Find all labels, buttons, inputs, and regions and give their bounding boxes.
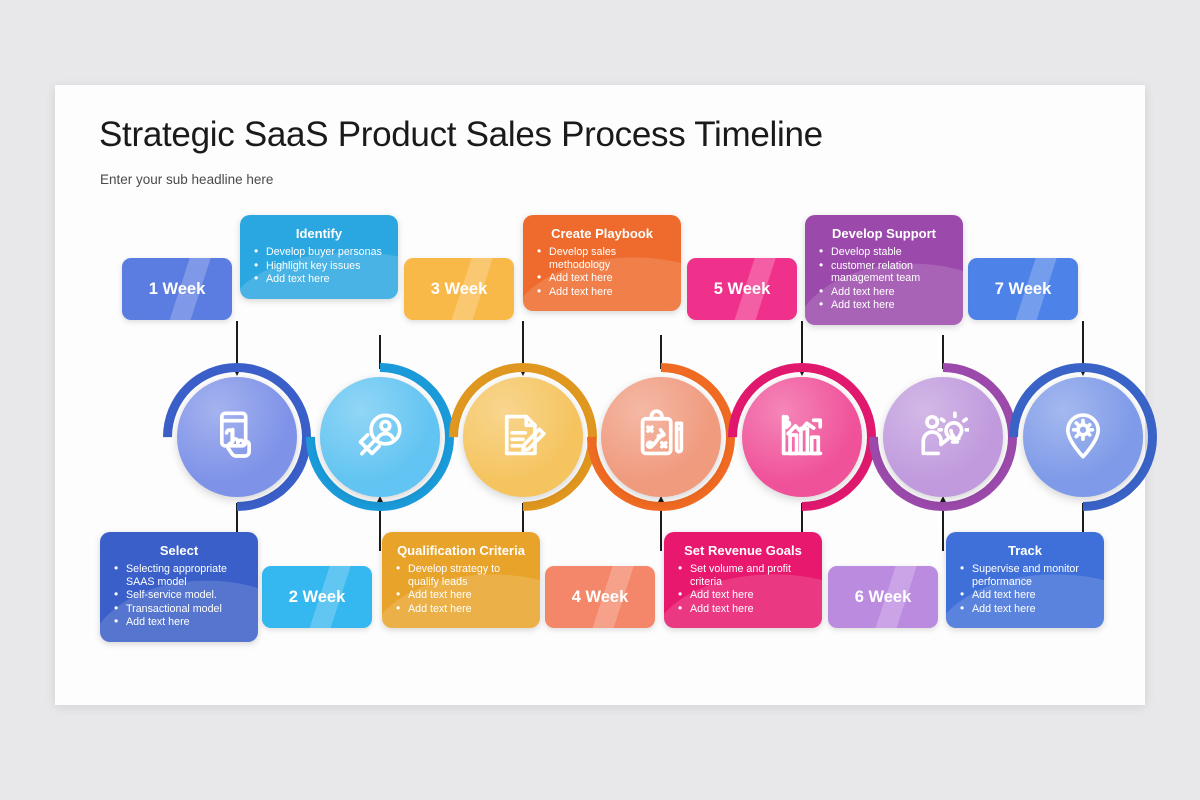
- process-card-title-3: Qualification Criteria: [393, 543, 529, 558]
- week-badge-label-3: 3 Week: [431, 280, 488, 299]
- week-badge-5[interactable]: 5 Week: [687, 258, 797, 320]
- process-card-bullet: Develop sales methodology: [534, 246, 670, 271]
- process-card-1[interactable]: SelectSelecting appropriate SAAS modelSe…: [100, 532, 258, 642]
- revenue-chart-icon: [776, 409, 828, 466]
- process-card-bullet: Add text here: [111, 616, 247, 629]
- timeline-stage: 1 Week2 Week3 Week4 Week5 Week6 Week7 We…: [55, 85, 1145, 705]
- process-card-bullet: Set volume and profit criteria: [675, 563, 811, 588]
- week-badge-4[interactable]: 4 Week: [545, 566, 655, 628]
- process-card-bullet: Develop buyer personas: [251, 246, 387, 259]
- process-card-bullets-6: Develop stablecustomer relation manageme…: [816, 246, 952, 312]
- process-card-title-2: Identify: [251, 226, 387, 241]
- week-badge-3[interactable]: 3 Week: [404, 258, 514, 320]
- week-badge-2[interactable]: 2 Week: [262, 566, 372, 628]
- node-icon-circle-2[interactable]: [320, 377, 440, 497]
- connector-arrow-5: [801, 321, 803, 367]
- timeline-node-1: [177, 377, 297, 497]
- week-badge-label-7: 7 Week: [995, 280, 1052, 299]
- node-icon-circle-6[interactable]: [883, 377, 1003, 497]
- clipboard-strategy-icon: [635, 409, 687, 466]
- process-card-bullet: Add text here: [251, 273, 387, 286]
- node-icon-circle-5[interactable]: [742, 377, 862, 497]
- process-card-bullet: Selecting appropriate SAAS model: [111, 563, 247, 588]
- timeline-node-6: [883, 377, 1003, 497]
- process-card-bullet: Add text here: [957, 589, 1093, 602]
- week-badge-label-1: 1 Week: [149, 280, 206, 299]
- process-card-bullet: Develop strategy to qualify leads: [393, 563, 529, 588]
- process-card-bullets-5: Set volume and profit criteriaAdd text h…: [675, 563, 811, 615]
- process-card-2[interactable]: IdentifyDevelop buyer personasHighlight …: [240, 215, 398, 299]
- mobile-tap-icon: [211, 409, 263, 466]
- timeline-node-4: [601, 377, 721, 497]
- week-badge-1[interactable]: 1 Week: [122, 258, 232, 320]
- connector-arrow-1: [236, 321, 238, 367]
- connector-arrow-6: [942, 505, 944, 551]
- connector-arrow-2: [379, 505, 381, 551]
- process-card-bullet: Add text here: [534, 286, 670, 299]
- process-card-title-4: Create Playbook: [534, 226, 670, 241]
- process-card-bullet: Add text here: [816, 299, 952, 312]
- node-icon-circle-7[interactable]: [1023, 377, 1143, 497]
- process-card-bullet: Transactional model: [111, 603, 247, 616]
- timeline-node-7: [1023, 377, 1143, 497]
- node-icon-circle-4[interactable]: [601, 377, 721, 497]
- process-card-bullet: customer relation management team: [816, 260, 952, 285]
- process-card-bullet: Self-service model.: [111, 589, 247, 602]
- connector-arrow-4: [660, 505, 662, 551]
- connector-arrow-3: [522, 321, 524, 367]
- node-icon-circle-3[interactable]: [463, 377, 583, 497]
- timeline-node-3: [463, 377, 583, 497]
- week-badge-label-2: 2 Week: [289, 588, 346, 607]
- process-card-title-7: Track: [957, 543, 1093, 558]
- search-user-icon: [354, 409, 406, 466]
- process-card-7[interactable]: TrackSupervise and monitor performanceAd…: [946, 532, 1104, 628]
- process-card-bullet: Add text here: [816, 286, 952, 299]
- process-card-bullet: Add text here: [675, 603, 811, 616]
- process-card-bullet: Develop stable: [816, 246, 952, 259]
- location-gear-icon: [1057, 409, 1109, 466]
- week-badge-6[interactable]: 6 Week: [828, 566, 938, 628]
- process-card-5[interactable]: Set Revenue GoalsSet volume and profit c…: [664, 532, 822, 628]
- process-card-bullets-1: Selecting appropriate SAAS modelSelf-ser…: [111, 563, 247, 629]
- process-card-bullet: Add text here: [393, 603, 529, 616]
- process-card-bullet: Supervise and monitor performance: [957, 563, 1093, 588]
- process-card-title-1: Select: [111, 543, 247, 558]
- process-card-bullet: Add text here: [957, 603, 1093, 616]
- week-badge-label-6: 6 Week: [855, 588, 912, 607]
- process-card-bullet: Add text here: [534, 272, 670, 285]
- week-badge-7[interactable]: 7 Week: [968, 258, 1078, 320]
- process-card-bullet: Add text here: [675, 589, 811, 602]
- process-card-bullets-3: Develop strategy to qualify leadsAdd tex…: [393, 563, 529, 615]
- process-card-6[interactable]: Develop SupportDevelop stablecustomer re…: [805, 215, 963, 325]
- support-idea-icon: [917, 409, 969, 466]
- node-icon-circle-1[interactable]: [177, 377, 297, 497]
- process-card-bullet: Highlight key issues: [251, 260, 387, 273]
- process-card-3[interactable]: Qualification CriteriaDevelop strategy t…: [382, 532, 540, 628]
- process-card-bullets-4: Develop sales methodologyAdd text hereAd…: [534, 246, 670, 298]
- slide-canvas: Strategic SaaS Product Sales Process Tim…: [55, 85, 1145, 705]
- process-card-bullets-2: Develop buyer personasHighlight key issu…: [251, 246, 387, 286]
- process-card-bullet: Add text here: [393, 589, 529, 602]
- week-badge-label-4: 4 Week: [572, 588, 629, 607]
- timeline-node-2: [320, 377, 440, 497]
- process-card-bullets-7: Supervise and monitor performanceAdd tex…: [957, 563, 1093, 615]
- document-edit-icon: [497, 409, 549, 466]
- process-card-4[interactable]: Create PlaybookDevelop sales methodology…: [523, 215, 681, 311]
- process-card-title-6: Develop Support: [816, 226, 952, 241]
- process-card-title-5: Set Revenue Goals: [675, 543, 811, 558]
- week-badge-label-5: 5 Week: [714, 280, 771, 299]
- connector-arrow-7: [1082, 321, 1084, 367]
- timeline-node-5: [742, 377, 862, 497]
